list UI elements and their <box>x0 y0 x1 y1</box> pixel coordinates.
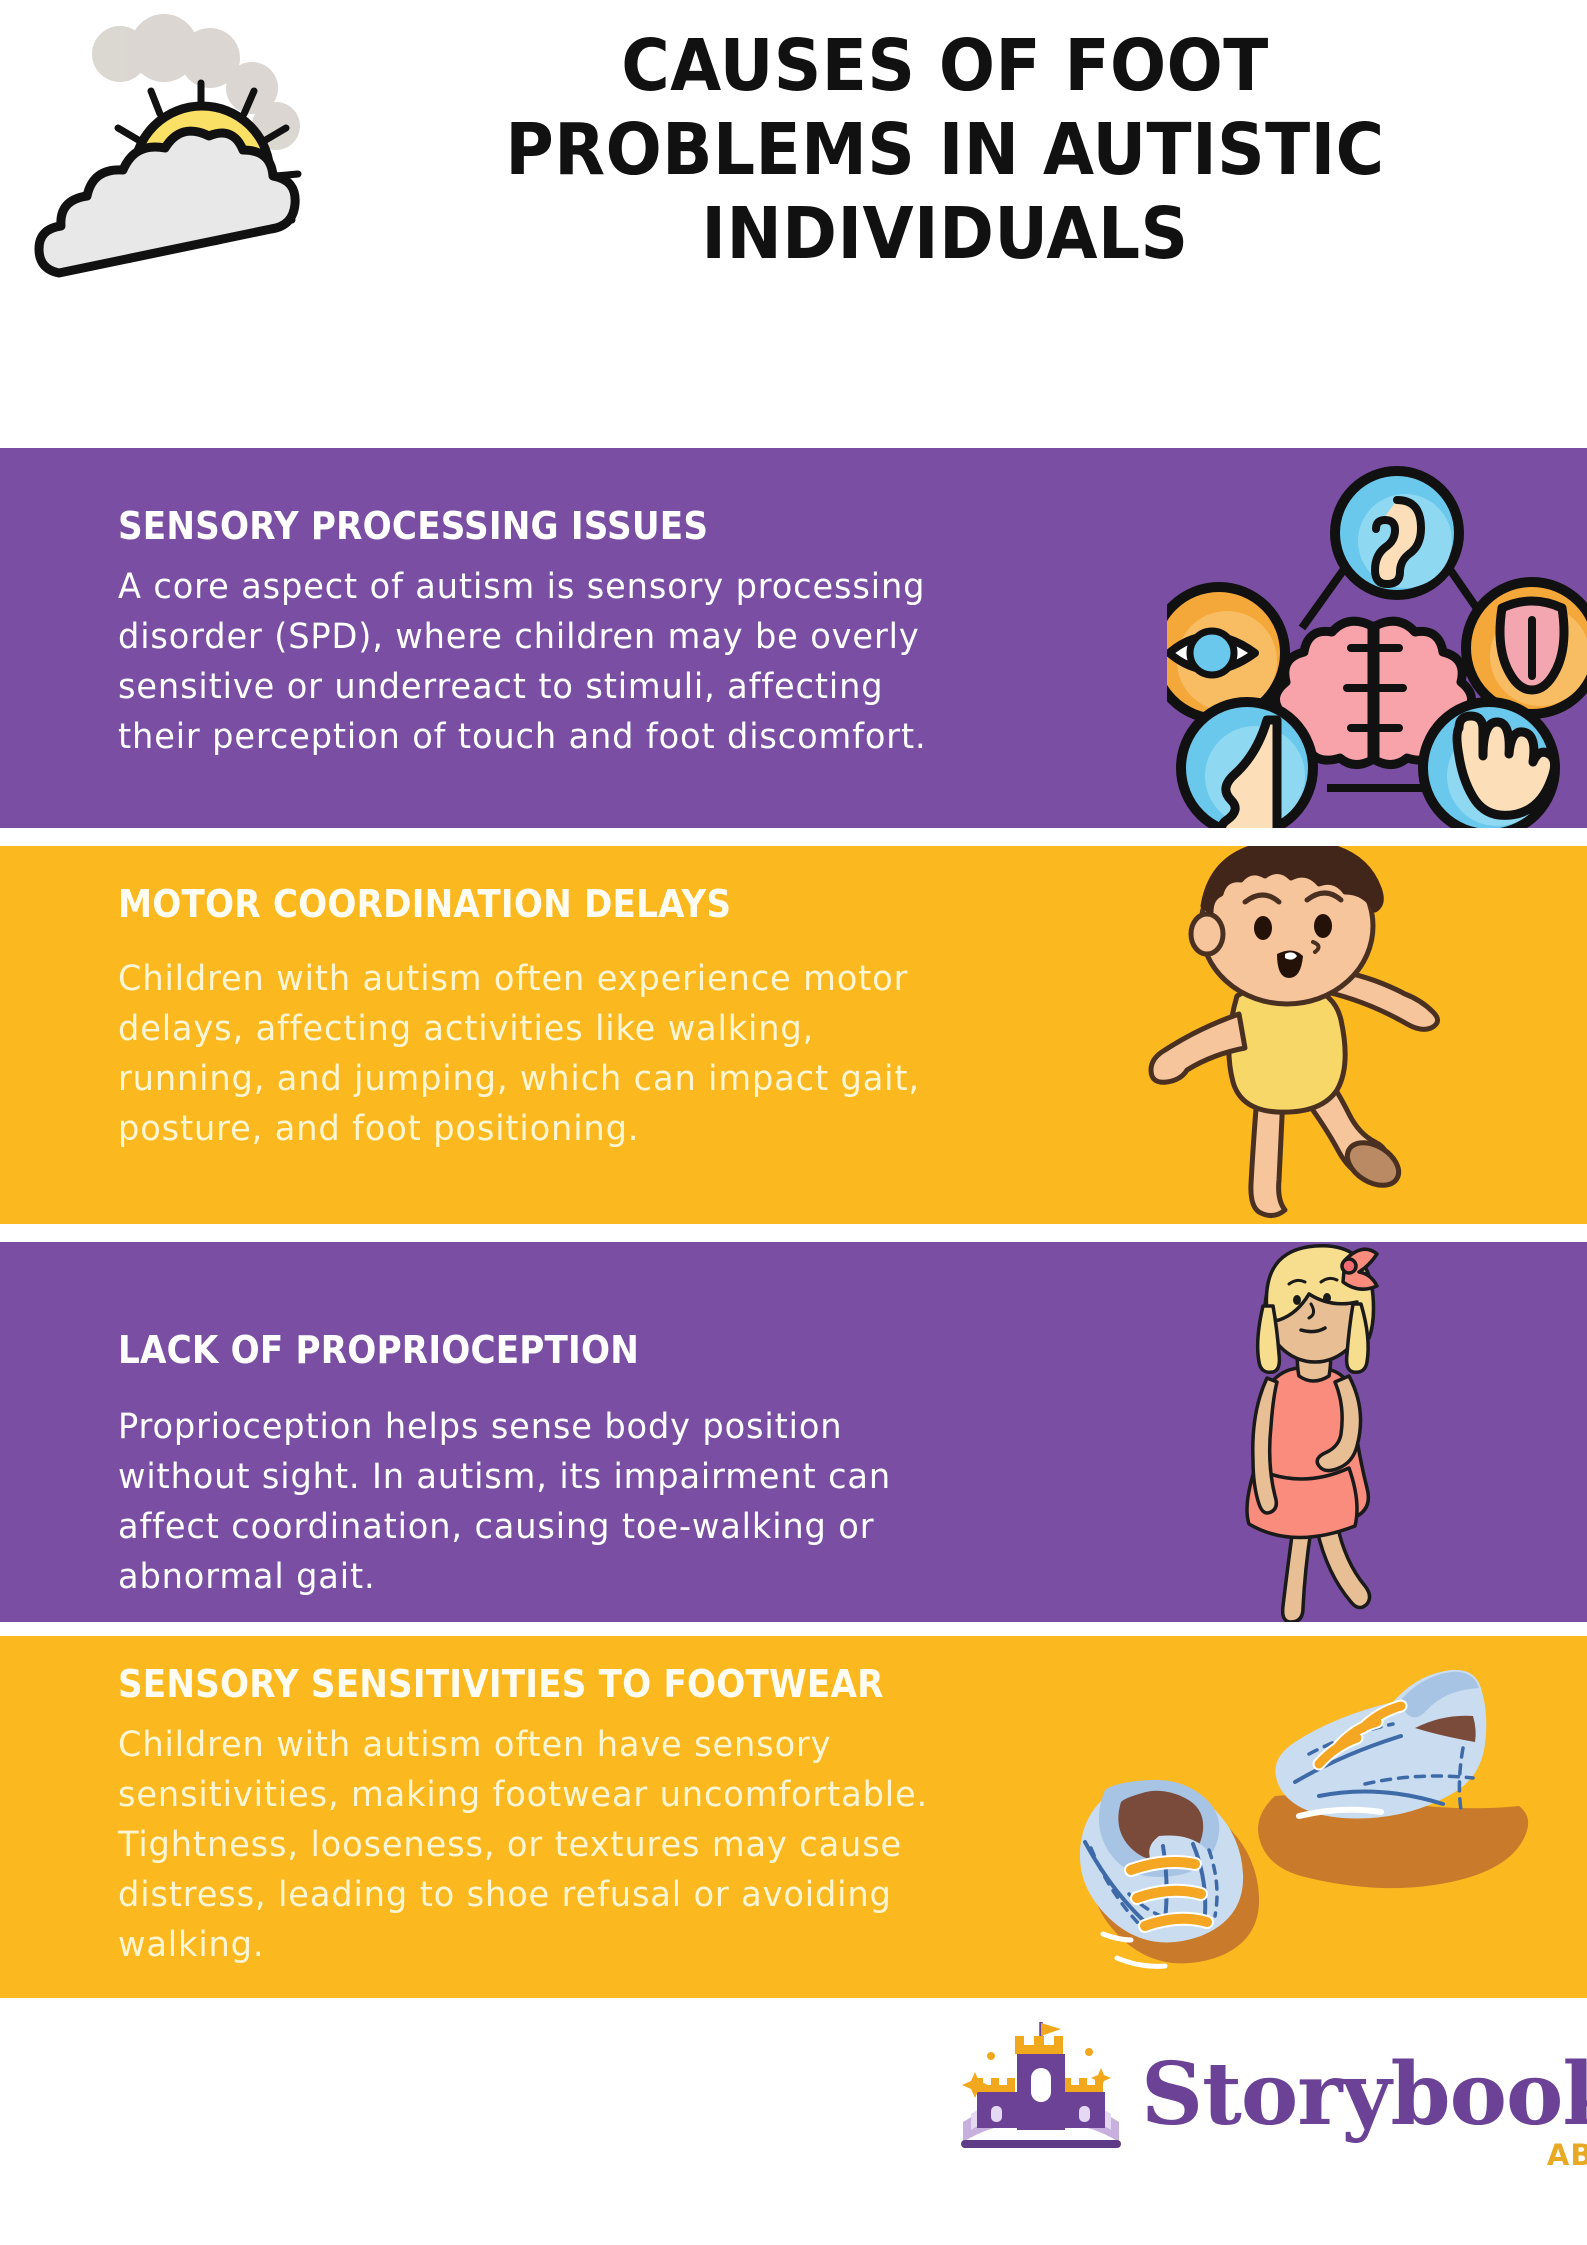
pair-of-baby-shoes-illustration <box>1047 1636 1587 1998</box>
section-1-heading: SENSORY PROCESSING ISSUES <box>118 504 910 548</box>
page-title-line-1: CAUSES OF FOOT <box>373 24 1517 108</box>
section-1-text: SENSORY PROCESSING ISSUES A core aspect … <box>118 504 998 762</box>
section-4-text: SENSORY SENSITIVITIES TO FOOTWEAR Childr… <box>118 1662 998 1970</box>
section-lack-of-proprioception: LACK OF PROPRIOCEPTION Proprioception he… <box>0 1242 1587 1622</box>
section-2-heading: MOTOR COORDINATION DELAYS <box>118 882 910 926</box>
section-2-body: Children with autism often experience mo… <box>118 954 963 1154</box>
brand-sub: ABA <box>1547 2138 1587 2172</box>
page-title: CAUSES OF FOOT PROBLEMS IN AUTISTIC INDI… <box>330 24 1560 275</box>
section-4-heading: SENSORY SENSITIVITIES TO FOOTWEAR <box>118 1662 910 1706</box>
section-sensory-sensitivities-to-footwear: SENSORY SENSITIVITIES TO FOOTWEAR Childr… <box>0 1636 1587 1998</box>
section-3-text: LACK OF PROPRIOCEPTION Proprioception he… <box>118 1328 998 1602</box>
infographic-page: CAUSES OF FOOT PROBLEMS IN AUTISTIC INDI… <box>0 0 1587 2245</box>
section-1-body: A core aspect of autism is sensory proce… <box>118 562 963 762</box>
section-3-body: Proprioception helps sense body position… <box>118 1402 963 1602</box>
section-3-heading: LACK OF PROPRIOCEPTION <box>118 1328 910 1372</box>
section-4-body: Children with autism often have sensory … <box>118 1720 963 1970</box>
brand-name: Storybook <box>1141 2052 1587 2138</box>
section-2-text: MOTOR COORDINATION DELAYS Children with … <box>118 882 998 1154</box>
page-title-line-3: INDIVIDUALS <box>373 192 1517 276</box>
section-sensory-processing-issues: SENSORY PROCESSING ISSUES A core aspect … <box>0 448 1587 828</box>
page-title-line-2: PROBLEMS IN AUTISTIC <box>373 108 1517 192</box>
brand-logo: Storybook ABA <box>955 2022 1587 2167</box>
section-motor-coordination-delays: MOTOR COORDINATION DELAYS Children with … <box>0 846 1587 1224</box>
castle-on-open-book-icon <box>955 2022 1127 2167</box>
walking-toddler-illustration <box>1127 846 1587 1224</box>
five-senses-brain-icon <box>1167 448 1587 828</box>
sun-behind-cloud-icon <box>14 8 314 298</box>
footer: Storybook ABA <box>0 2000 1587 2245</box>
standing-girl-illustration <box>1197 1242 1587 1622</box>
brand-text: Storybook ABA <box>1141 2052 1587 2138</box>
header: CAUSES OF FOOT PROBLEMS IN AUTISTIC INDI… <box>0 0 1587 430</box>
